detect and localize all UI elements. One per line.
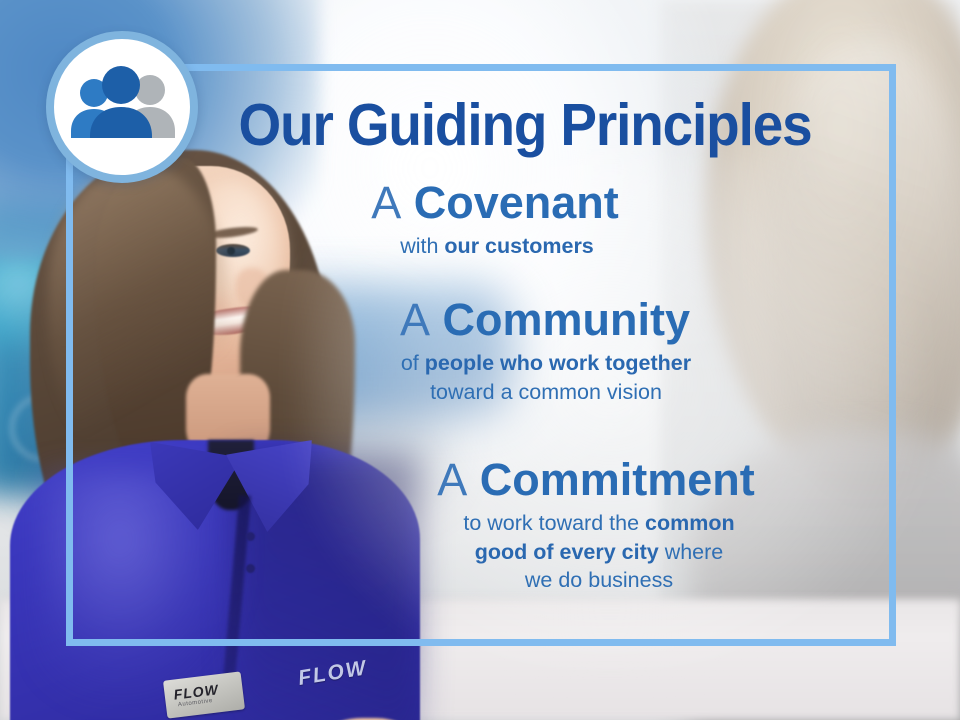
subline-text: toward a common vision — [202, 378, 890, 406]
subline-text: where — [659, 540, 724, 564]
copy-block: Our Guiding Principles A Covenant with o… — [90, 64, 890, 646]
subline-text: we do business — [525, 568, 673, 592]
subline-emphasis: our customers — [444, 234, 593, 258]
principle-keyword: Covenant — [414, 177, 619, 228]
principle-item-commitment: A Commitment to work toward the common g… — [90, 456, 890, 594]
principle-item-community: A Community of people who work together … — [90, 296, 890, 406]
principle-keyword: Community — [443, 294, 691, 345]
subline-text: with — [400, 234, 444, 258]
subline-emphasis: people who work together — [425, 351, 691, 375]
subline-row: to work toward the common — [308, 509, 890, 537]
subline-row: we do business — [308, 566, 890, 594]
principle-subline: with our customers — [90, 232, 890, 260]
principle-subline: to work toward the common good of every … — [90, 509, 890, 594]
principle-keyword: Commitment — [480, 454, 755, 505]
principle-article: A — [400, 294, 430, 345]
principle-article: A — [437, 454, 467, 505]
principle-heading: A Covenant — [90, 179, 890, 226]
banner-canvas: FLOW Automotive FLOW Our Guiding Princip… — [0, 0, 960, 720]
principle-article: A — [371, 177, 401, 228]
subline-emphasis: good of every city — [475, 540, 659, 564]
subline-text: to work toward the — [463, 511, 645, 535]
subline-row: good of every city where — [308, 538, 890, 566]
principle-item-covenant: A Covenant with our customers — [90, 179, 890, 261]
principle-subline: of people who work together toward a com… — [90, 349, 890, 406]
principle-heading: A Commitment — [90, 456, 890, 503]
page-title: Our Guiding Principles — [223, 96, 828, 155]
subline-text: of — [401, 351, 425, 375]
principle-heading: A Community — [90, 296, 890, 343]
subline-emphasis: common — [645, 511, 735, 535]
